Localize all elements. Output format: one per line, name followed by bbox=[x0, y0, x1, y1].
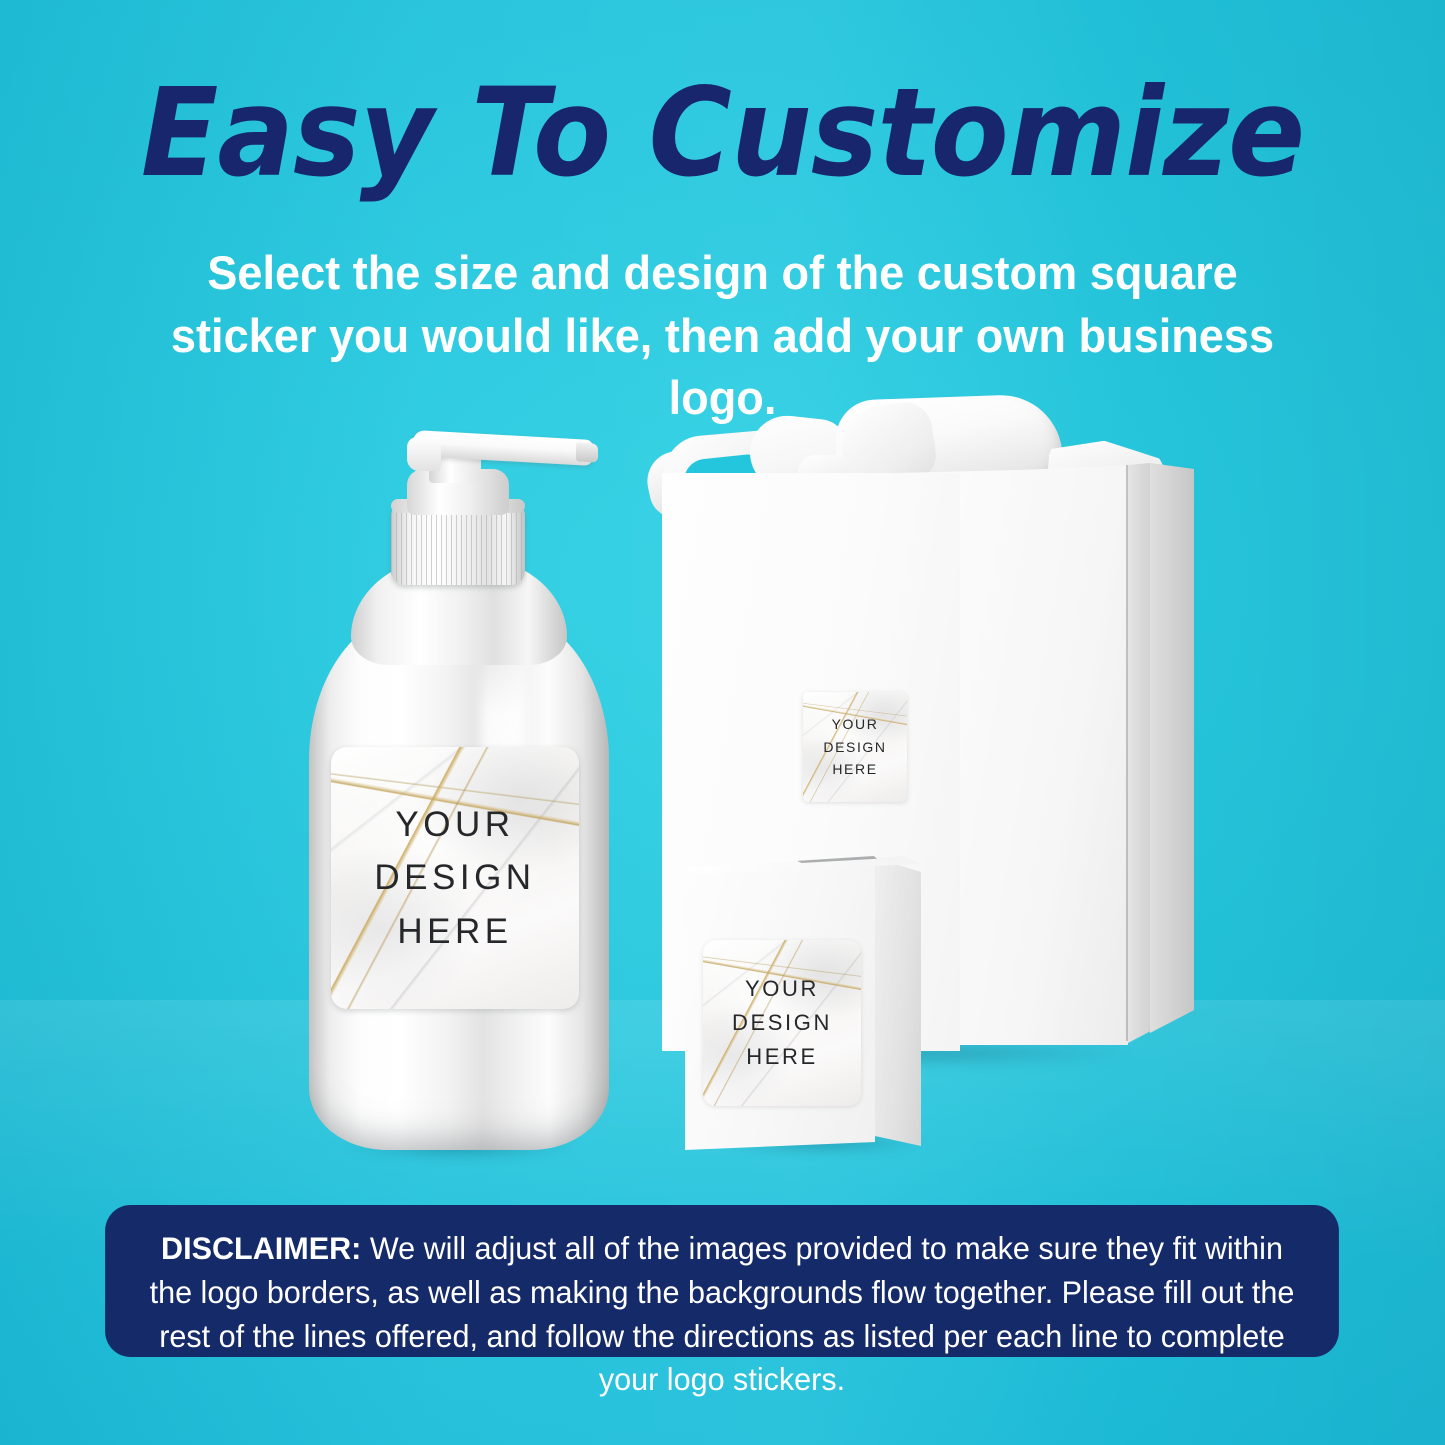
sticker-line-2: DESIGN bbox=[732, 1006, 832, 1040]
sticker-line-1: YOUR bbox=[823, 713, 886, 736]
sticker-line-2: DESIGN bbox=[374, 851, 535, 904]
pump-nozzle-tip bbox=[576, 442, 598, 463]
sticker-text-block: YOUR DESIGN HERE bbox=[732, 972, 832, 1075]
gift-box-sticker: YOUR DESIGN HERE bbox=[803, 692, 907, 802]
sticker-line-2: DESIGN bbox=[823, 736, 886, 759]
product-pump-bottle: YOUR DESIGN HERE bbox=[295, 425, 625, 1195]
gift-box-side-face bbox=[1128, 463, 1150, 1043]
gift-box-side-face-outer bbox=[1150, 461, 1194, 1033]
sticker-line-3: HERE bbox=[732, 1040, 832, 1074]
bottle-sticker-label: YOUR DESIGN HERE bbox=[331, 747, 579, 1009]
sticker-line-1: YOUR bbox=[732, 972, 832, 1006]
product-small-box: YOUR DESIGN HERE bbox=[675, 850, 965, 1170]
disclaimer-label: DISCLAIMER: bbox=[161, 1230, 361, 1266]
pump-collar-icon bbox=[391, 505, 525, 585]
page-title: Easy To Customize bbox=[51, 72, 1395, 194]
sticker-line-1: YOUR bbox=[374, 798, 535, 851]
sticker-line-3: HERE bbox=[374, 905, 535, 958]
gift-box-front-face-right bbox=[960, 465, 1128, 1045]
small-box-side-face bbox=[875, 858, 921, 1146]
pump-nozzle-base bbox=[407, 437, 441, 471]
sticker-text-block: YOUR DESIGN HERE bbox=[374, 798, 535, 958]
sticker-line-3: HERE bbox=[823, 758, 886, 781]
disclaimer-banner: DISCLAIMER: We will adjust all of the im… bbox=[105, 1205, 1339, 1357]
promo-banner: Easy To Customize Select the size and de… bbox=[0, 0, 1445, 1445]
sticker-text-block: YOUR DESIGN HERE bbox=[823, 713, 886, 781]
small-box-sticker: YOUR DESIGN HERE bbox=[703, 940, 861, 1106]
